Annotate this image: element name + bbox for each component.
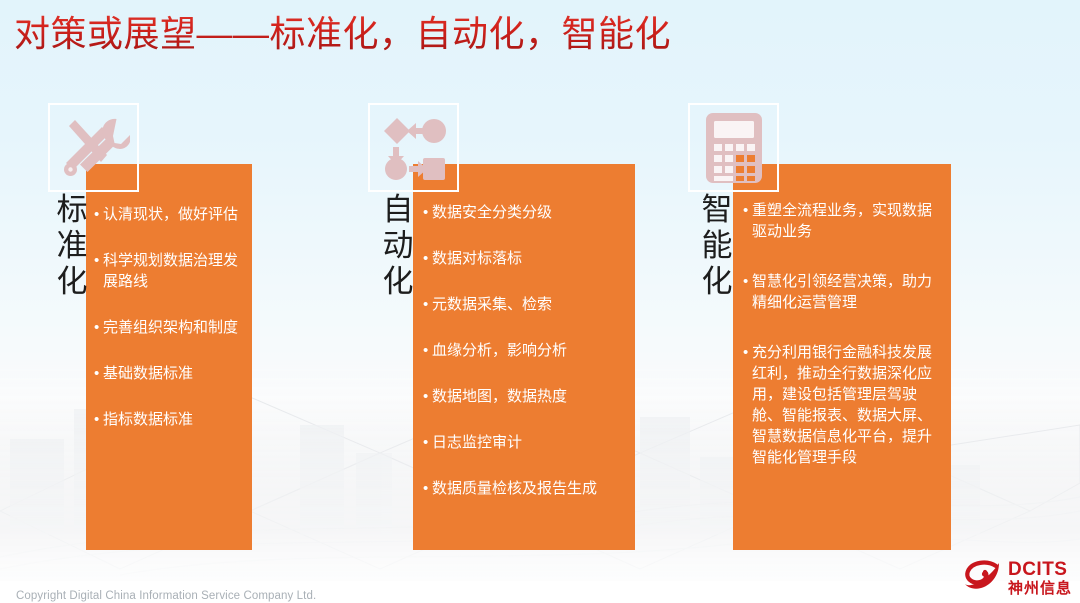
label-char: 准 <box>52 228 92 264</box>
logo-en-text: DCITS <box>1008 560 1072 579</box>
column-label-automation: 自 动 化 <box>378 192 418 300</box>
column-label-intelligence: 智 能 化 <box>697 192 737 300</box>
label-char: 能 <box>697 228 737 264</box>
bullet-item: 血缘分析，影响分析 <box>423 340 625 361</box>
copyright-text: Copyright Digital China Information Serv… <box>16 590 316 602</box>
logo-wordmark: DCITS 神州信息 <box>1008 560 1072 596</box>
logo-cn-text: 神州信息 <box>1008 581 1072 596</box>
bullet-list-intelligence: 重塑全流程业务，实现数据驱动业务 智慧化引领经营决策，助力精细化运营管理 充分利… <box>743 200 941 468</box>
bullet-item: 指标数据标准 <box>94 409 244 430</box>
content-box-intelligence: 重塑全流程业务，实现数据驱动业务 智慧化引领经营决策，助力精细化运营管理 充分利… <box>733 164 951 550</box>
bullet-item: 数据对标落标 <box>423 248 625 269</box>
label-char: 标 <box>52 192 92 228</box>
bullet-item: 数据质量检核及报告生成 <box>423 478 625 499</box>
bullet-item: 元数据采集、检索 <box>423 294 625 315</box>
label-char: 化 <box>378 264 418 300</box>
label-char: 自 <box>378 192 418 228</box>
bullet-item: 日志监控审计 <box>423 432 625 453</box>
content-box-automation: 数据安全分类分级 数据对标落标 元数据采集、检索 血缘分析，影响分析 数据地图，… <box>413 164 635 550</box>
bullet-item: 认清现状，做好评估 <box>94 204 244 225</box>
slide-title: 对策或展望——标准化，自动化，智能化 <box>14 8 671 60</box>
bullet-list-standardization: 认清现状，做好评估 科学规划数据治理发展路线 完善组织架构和制度 基础数据标准 … <box>94 204 244 430</box>
bullet-item: 科学规划数据治理发展路线 <box>94 250 244 292</box>
content-box-standardization: 认清现状，做好评估 科学规划数据治理发展路线 完善组织架构和制度 基础数据标准 … <box>86 164 252 550</box>
flowchart-process-icon <box>368 103 459 192</box>
calculator-icon <box>688 103 779 192</box>
tools-wrench-screwdriver-icon <box>48 103 139 192</box>
bullet-item: 数据安全分类分级 <box>423 202 625 223</box>
bullet-item: 重塑全流程业务，实现数据驱动业务 <box>743 200 941 242</box>
bullet-list-automation: 数据安全分类分级 数据对标落标 元数据采集、检索 血缘分析，影响分析 数据地图，… <box>423 202 625 499</box>
bullet-item: 数据地图，数据热度 <box>423 386 625 407</box>
bullet-item: 完善组织架构和制度 <box>94 317 244 338</box>
dcits-swirl-logo-icon <box>963 559 1003 598</box>
label-char: 智 <box>697 192 737 228</box>
label-char: 化 <box>697 264 737 300</box>
bullet-item: 充分利用银行金融科技发展红利，推动全行数据深化应用，建设包括管理层驾驶舱、智能报… <box>743 342 941 468</box>
dcits-logo: DCITS 神州信息 <box>963 559 1072 597</box>
label-char: 化 <box>52 264 92 300</box>
bullet-item: 智慧化引领经营决策，助力精细化运营管理 <box>743 271 941 313</box>
label-char: 动 <box>378 228 418 264</box>
column-label-standardization: 标 准 化 <box>52 192 92 300</box>
slide-canvas: 对策或展望——标准化，自动化，智能化 标 准 化 认清现状， <box>0 0 1080 603</box>
bullet-item: 基础数据标准 <box>94 363 244 384</box>
